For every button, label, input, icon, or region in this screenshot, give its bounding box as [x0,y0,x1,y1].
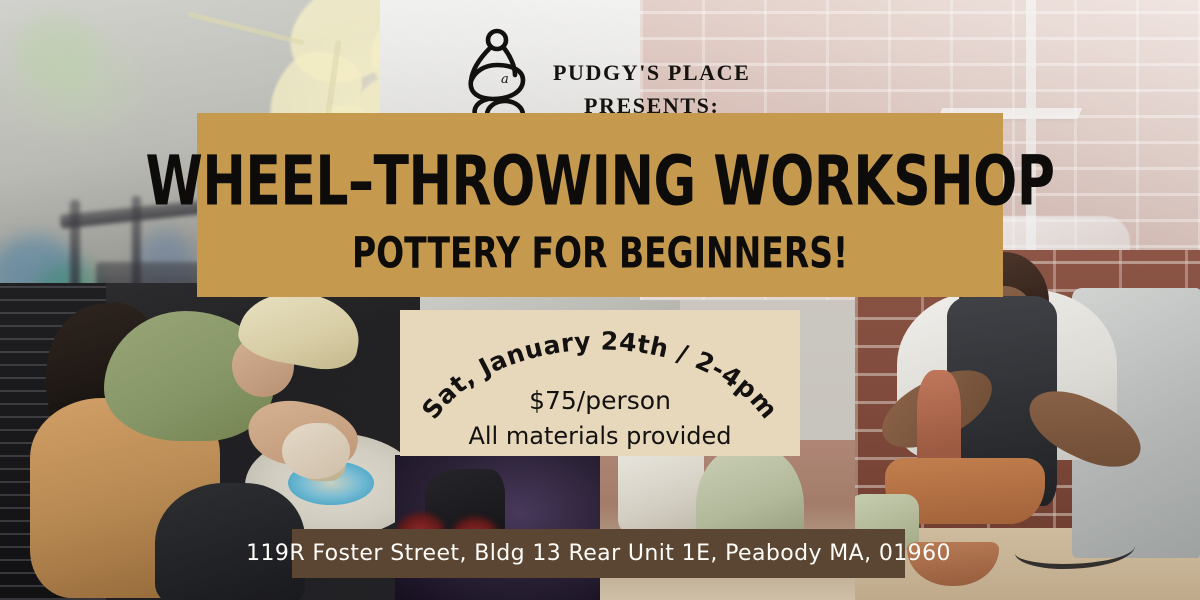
potter-hands [282,423,350,479]
title-banner: WHEEL–THROWING WORKSHOP POTTERY FOR BEGI… [197,113,1003,297]
event-details-box: Sat, January 24th / 2-4pm $75/person All… [400,310,800,456]
event-poster: a PUDGY'S PLACE PRESENTS: WHEEL–THROWING… [0,0,1200,600]
address-bar: 119R Foster Street, Bldg 13 Rear Unit 1E… [292,529,905,578]
poster-subheadline: POTTERY FOR BEGINNERS! [352,231,848,274]
address-label: 119R Foster Street, Bldg 13 Rear Unit 1E… [246,541,951,566]
brand-name-block: PUDGY'S PLACE PRESENTS: [553,40,750,122]
price-label: $75/person [400,386,800,415]
clay-bucket [618,448,704,534]
photo-dark-equipment [395,455,620,600]
brand-line-1: PUDGY'S PLACE [553,56,750,89]
flower-stem [187,12,305,46]
poster-headline: WHEEL–THROWING WORKSHOP [146,147,1055,216]
decor-blob [14,14,98,86]
svg-text:a: a [501,72,509,87]
green-wheel-housing [696,446,804,542]
materials-label: All materials provided [400,422,800,450]
